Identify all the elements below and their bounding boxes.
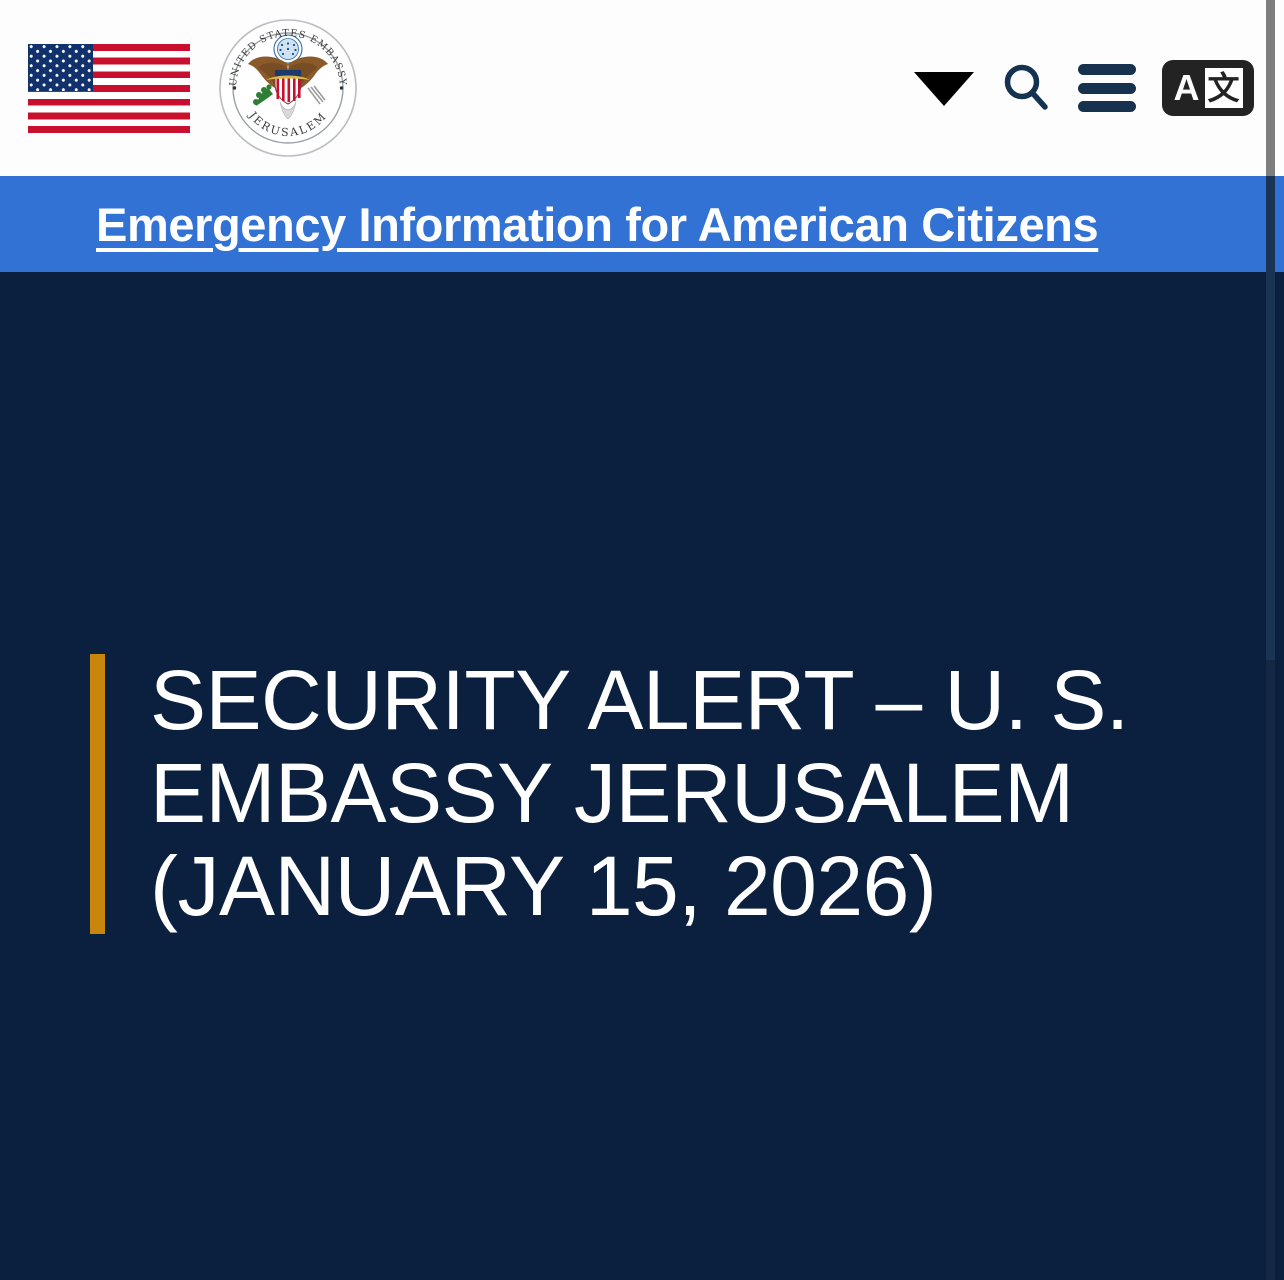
menu-button[interactable]	[1078, 64, 1136, 112]
emergency-information-link[interactable]: Emergency Information for American Citiz…	[96, 197, 1098, 252]
translate-cjk-glyph: 文	[1207, 72, 1239, 104]
translate-button[interactable]: A 文	[1162, 60, 1254, 116]
search-icon	[1000, 60, 1052, 116]
chevron-down-icon	[914, 72, 974, 106]
site-header: UNITED STATES EMBASSY JERUSALEM	[0, 0, 1284, 176]
brand-block[interactable]: UNITED STATES EMBASSY JERUSALEM	[0, 0, 358, 176]
translate-icon: A 文	[1162, 60, 1254, 116]
embassy-seal-icon: UNITED STATES EMBASSY JERUSALEM	[218, 18, 358, 158]
scrollbar-thumb-shaded[interactable]	[1266, 176, 1275, 660]
hero-section: SECURITY ALERT – U. S. EMBASSY JERUSALEM…	[0, 272, 1284, 1280]
page-title: SECURITY ALERT – U. S. EMBASSY JERUSALEM…	[150, 654, 1160, 934]
translate-latin-glyph: A	[1174, 70, 1200, 106]
title-accent-bar	[90, 654, 105, 934]
header-actions: A 文	[914, 0, 1254, 176]
scrollbar-edge-top	[1275, 0, 1284, 176]
search-button[interactable]	[1000, 60, 1052, 116]
us-flag-icon	[28, 44, 190, 133]
page-root: UNITED STATES EMBASSY JERUSALEM	[0, 0, 1284, 1280]
flag-stars	[28, 44, 93, 92]
page-title-wrap: SECURITY ALERT – U. S. EMBASSY JERUSALEM…	[90, 654, 1160, 934]
vertical-scrollbar[interactable]	[1266, 0, 1275, 1280]
expand-menu-button[interactable]	[914, 70, 974, 106]
hamburger-icon	[1078, 64, 1136, 112]
translate-cjk-box: 文	[1205, 68, 1243, 108]
emergency-banner[interactable]: Emergency Information for American Citiz…	[0, 176, 1284, 272]
